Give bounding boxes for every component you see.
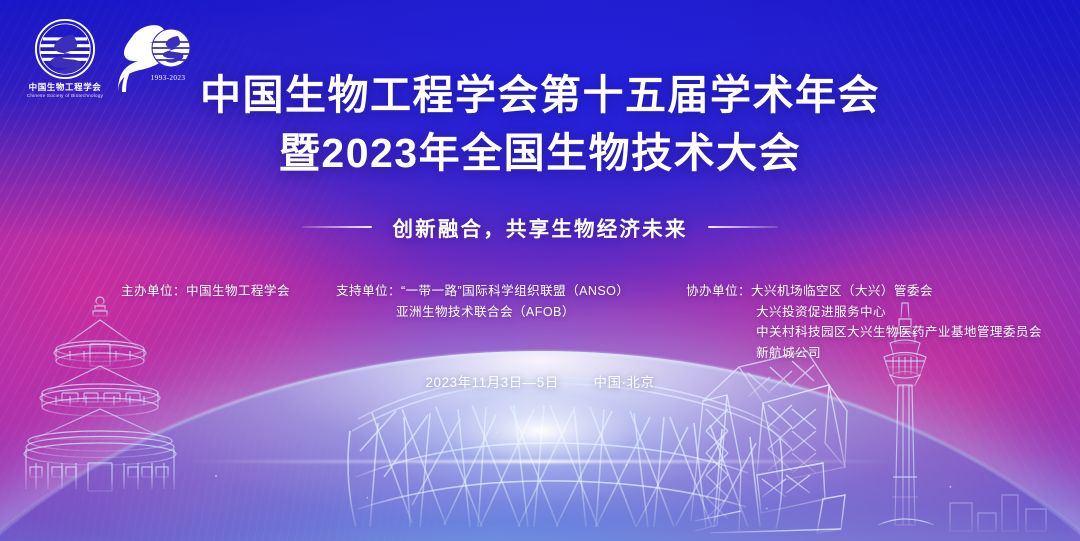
horizon-flare-ray [180,460,900,463]
slogan-text: 创新融合，共享生物经济未来 [392,212,687,242]
conference-date: 2023年11月3日—5日 [425,375,558,390]
host-organizer-value: 中国生物工程学会 [186,284,290,298]
support-organizer-value-1: “一带一路”国际科学组织联盟（ANSO） [401,284,629,298]
organizers-block: 主办单位：中国生物工程学会 支持单位：“一带一路”国际科学组织联盟（ANSO） … [0,281,1080,377]
conference-banner: 中国生物工程学会 Chinese Society of Biotechnolog… [0,0,1080,541]
coorganizer-line-1: 协办单位：大兴机场临空区（大兴）管委会 [686,281,1042,302]
host-organizer-column: 主办单位：中国生物工程学会 [121,281,290,302]
coorganizer-value-1: 大兴机场临空区（大兴）管委会 [751,284,933,298]
conference-title: 中国生物工程学会第十五届学术年会 暨2023年全国生物技术大会 [0,66,1080,182]
title-line-2: 暨2023年全国生物技术大会 [0,124,1080,182]
support-organizer-label: 支持单位： [336,284,401,298]
coorganizer-line-3: 中关村科技园区大兴生物医药产业基地管理委员会 [686,322,1042,343]
title-line-1: 中国生物工程学会第十五届学术年会 [0,66,1080,124]
conference-location: 中国·北京 [593,375,654,390]
coorganizer-column: 协办单位：大兴机场临空区（大兴）管委会 大兴投资促进服务中心 中关村科技园区大兴… [686,281,1042,363]
date-location-row: 2023年11月3日—5日 中国·北京 [0,371,1080,391]
slogan-rule-left [302,226,372,228]
coorganizer-label: 协办单位： [686,284,751,298]
coorganizer-line-4: 新航城公司 [686,343,1042,364]
slogan-rule-right [708,226,778,228]
host-organizer-label: 主办单位： [121,284,186,298]
support-organizer-column: 支持单位：“一带一路”国际科学组织联盟（ANSO） 亚洲生物技术联合会（AFOB… [336,281,629,322]
support-organizer-line-1: 支持单位：“一带一路”国际科学组织联盟（ANSO） [336,281,629,302]
conference-slogan: 创新融合，共享生物经济未来 [0,212,1080,242]
support-organizer-line-2: 亚洲生物技术联合会（AFOB） [336,302,629,323]
host-organizer-line-1: 主办单位：中国生物工程学会 [121,281,290,302]
coorganizer-line-2: 大兴投资促进服务中心 [686,302,1042,323]
